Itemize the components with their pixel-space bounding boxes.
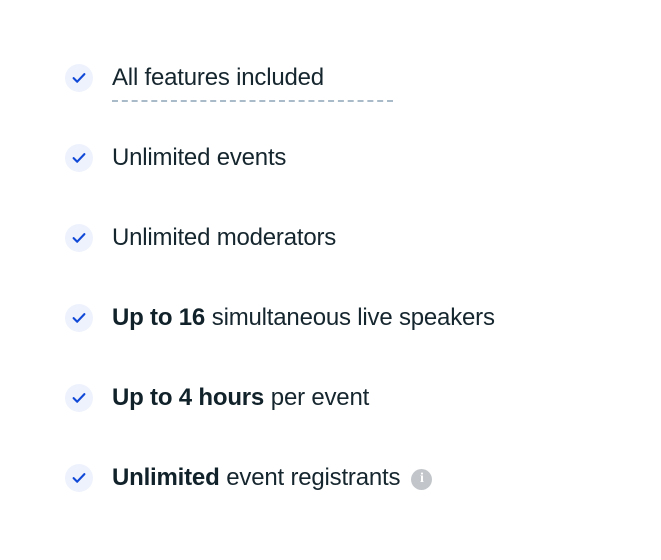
list-item: Unlimited event registrants i <box>65 464 432 492</box>
feature-label-text: All features included <box>112 64 324 92</box>
feature-label: Unlimited event registrants i <box>112 464 432 492</box>
feature-label: Unlimited events <box>112 144 286 172</box>
list-item: Unlimited moderators <box>65 224 336 252</box>
feature-label-emphasis: Up to 16 <box>112 304 205 332</box>
feature-label-emphasis: Up to 4 hours <box>112 384 264 412</box>
feature-label-text: Unlimited events <box>112 144 286 172</box>
feature-label-text: event registrants <box>226 464 400 492</box>
check-icon <box>65 304 93 332</box>
feature-label: Up to 16 simultaneous live speakers <box>112 304 495 332</box>
list-item: Up to 16 simultaneous live speakers <box>65 304 495 332</box>
check-icon <box>65 64 93 92</box>
info-icon-glyph: i <box>420 472 424 486</box>
check-icon <box>65 144 93 172</box>
feature-label-text: Unlimited moderators <box>112 224 336 252</box>
list-item: Up to 4 hours per event <box>65 384 369 412</box>
list-item: All features included <box>65 64 324 92</box>
dashed-divider <box>112 100 393 102</box>
info-icon[interactable]: i <box>411 469 432 490</box>
feature-label-text: per event <box>271 384 369 412</box>
feature-label: All features included <box>112 64 324 92</box>
feature-list: All features included Unlimited events U… <box>0 0 661 560</box>
check-icon <box>65 464 93 492</box>
feature-label-emphasis: Unlimited <box>112 464 220 492</box>
feature-label: Unlimited moderators <box>112 224 336 252</box>
feature-label-text: simultaneous live speakers <box>212 304 495 332</box>
list-item: Unlimited events <box>65 144 286 172</box>
check-icon <box>65 224 93 252</box>
check-icon <box>65 384 93 412</box>
feature-label: Up to 4 hours per event <box>112 384 369 412</box>
